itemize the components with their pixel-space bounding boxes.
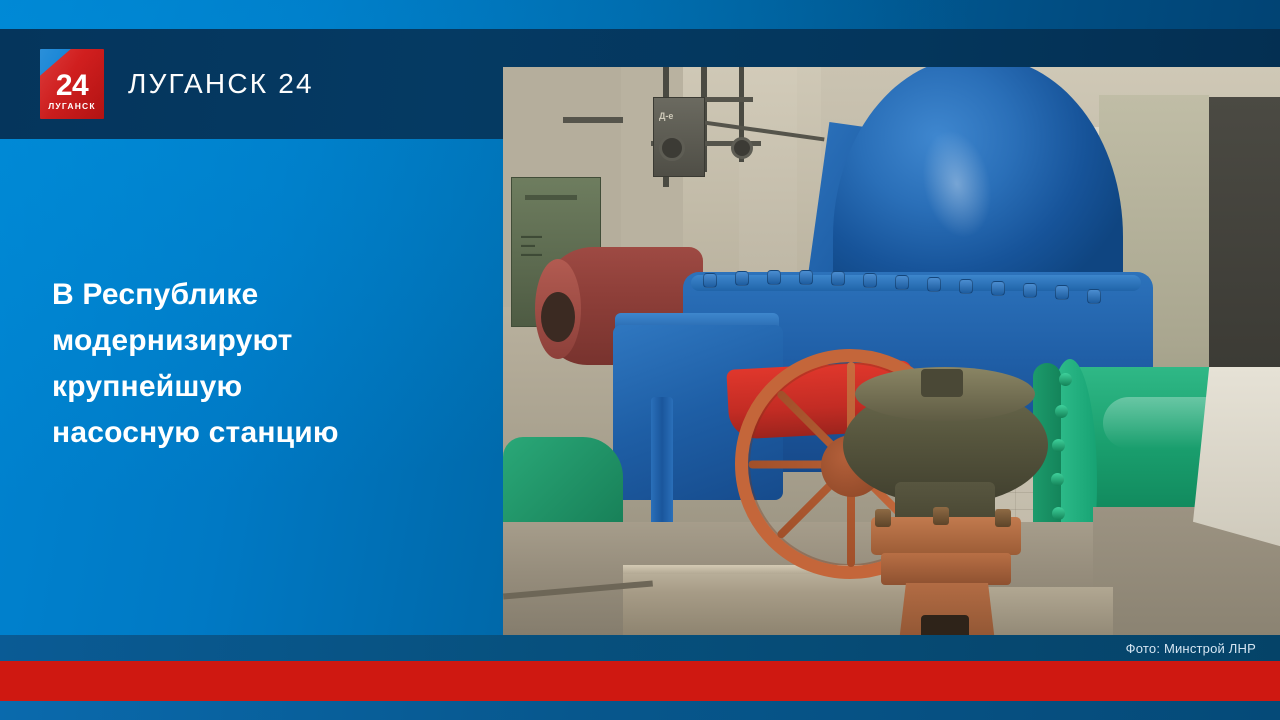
logo-number: 24 [40, 71, 104, 101]
pump-bolt [1023, 283, 1037, 298]
ceiling-crossbeam-3 [563, 117, 623, 123]
valve-pedestal-opening [921, 615, 969, 635]
green-flange-bolt [1055, 405, 1068, 418]
valve-flange-lower [881, 553, 1011, 585]
green-flange-bolt [1059, 373, 1072, 386]
channel-name: ЛУГАНСК 24 [128, 68, 314, 100]
headline-line-2: модернизируют [52, 318, 452, 364]
green-flange-bolt [1052, 507, 1065, 520]
bottom-bar-lower [0, 701, 1280, 720]
headline-line-4: насосную станцию [52, 410, 452, 456]
news-photo: Д-е ▬▬▬▬▬▬▬▬ 6 [503, 67, 1280, 635]
headline-line-3: крупнейшую [52, 364, 452, 410]
pump-bolt [1087, 289, 1101, 304]
photo-credit: Фото: Минстрой ЛНР [1126, 636, 1256, 660]
pump-bolt [799, 270, 813, 285]
overhead-gauge-2 [731, 137, 753, 159]
valve-stem-notch [921, 369, 963, 397]
bottom-bar-upper [0, 635, 1280, 661]
coupling-guard-opening [541, 292, 575, 342]
headline: В Республике модернизируют крупнейшую на… [52, 272, 452, 456]
valve-bolt [933, 507, 949, 525]
pump-bolt [895, 275, 909, 290]
headline-line-1: В Республике [52, 272, 452, 318]
valve-bolt [995, 509, 1011, 527]
news-card: 24 ЛУГАНСК ЛУГАНСК 24 В Республике модер… [0, 0, 1280, 720]
pump-bolt [1055, 285, 1069, 300]
bottom-bar-accent [0, 661, 1280, 701]
pump-bolt [927, 277, 941, 292]
logo-subtext: ЛУГАНСК [40, 102, 104, 111]
green-flange-bolt [1051, 473, 1064, 486]
pump-bolt [767, 270, 781, 285]
pump-bolt [959, 279, 973, 294]
cabinet-placard: ▬▬▬▬▬▬▬▬ [521, 232, 542, 259]
pump-bolt [863, 273, 877, 288]
photo-credit-text: Фото: Минстрой ЛНР [1126, 641, 1256, 656]
cabinet-stripe [525, 195, 577, 200]
overhead-gauge-1 [659, 135, 685, 161]
pump-bolt [735, 271, 749, 286]
brand-header[interactable]: 24 ЛУГАНСК ЛУГАНСК 24 [40, 29, 314, 139]
pump-bolt [703, 273, 717, 288]
green-flange-bolt [1052, 439, 1065, 452]
pump-bolt [991, 281, 1005, 296]
valve-bolt [875, 509, 891, 527]
lugansk24-logo[interactable]: 24 ЛУГАНСК [40, 49, 104, 119]
pump-split-line [691, 275, 1141, 291]
pump-bolt [831, 271, 845, 286]
overhead-box-label: Д-е [659, 111, 673, 121]
